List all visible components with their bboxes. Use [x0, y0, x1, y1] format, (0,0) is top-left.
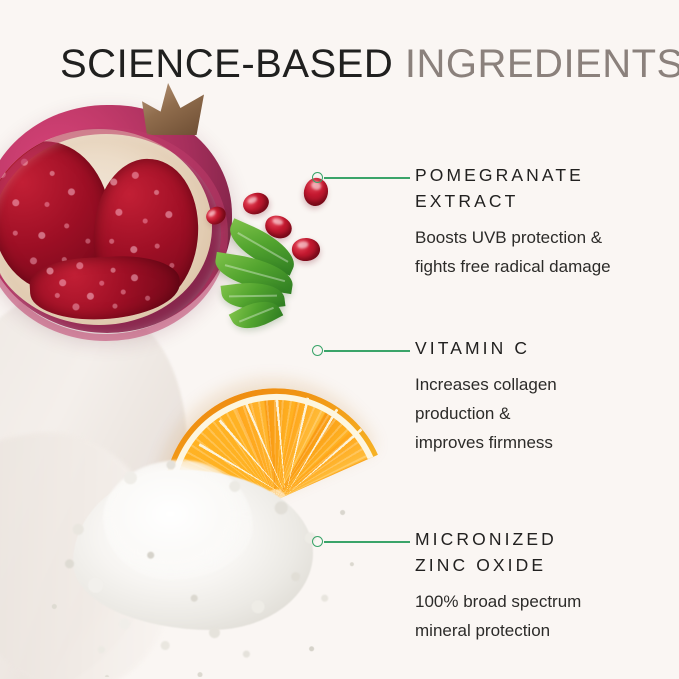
powder-granules [55, 452, 345, 667]
page-title: SCIENCE-BASED INGREDIENTS [60, 40, 679, 88]
powder-mound [73, 470, 313, 630]
zinc-oxide-powder-photo [55, 452, 345, 667]
orange-slice-body [128, 352, 378, 545]
green-leaf [229, 292, 284, 337]
callout-body-line: Boosts UVB protection & [415, 223, 675, 252]
circle-marker-icon [312, 345, 323, 356]
pomegranate-aril [240, 189, 272, 219]
callout-text-block: POMEGRANATE EXTRACT Boosts UVB protectio… [415, 162, 675, 281]
aril-texture [28, 253, 181, 323]
pomegranate-rim [0, 127, 228, 341]
callout-body-line: 100% broad spectrum [415, 587, 675, 616]
cream-swatch-streak-secondary [0, 415, 189, 679]
pomegranate-pith [0, 129, 212, 325]
powder-mound-highlight [103, 460, 253, 580]
green-leaf [221, 278, 286, 313]
callout-body: Boosts UVB protection & fights free radi… [415, 223, 675, 281]
powder-dust-specks [45, 442, 355, 677]
page-title-primary: SCIENCE-BASED [60, 42, 393, 86]
circle-marker-icon [312, 536, 323, 547]
aril-texture [0, 134, 120, 299]
leader-line [324, 177, 410, 179]
callout-body-line: fights free radical damage [415, 252, 675, 281]
leader-line [324, 350, 410, 352]
pomegranate-half-photo [0, 105, 232, 333]
pomegranate-crown [142, 83, 204, 135]
callout-text-block: MICRONIZED ZINC OXIDE 100% broad spectru… [415, 526, 675, 645]
callout-body: Increases collagen production & improves… [415, 370, 675, 457]
callout-text-block: VITAMIN C Increases collagen production … [415, 335, 675, 457]
callout-body-line: improves firmness [415, 428, 675, 457]
pomegranate-aril [203, 203, 229, 229]
orange-segment-lines [153, 363, 378, 537]
pomegranate-skin [0, 105, 232, 333]
callout-heading-line: POMEGRANATE [415, 162, 675, 188]
cream-swatch-streak [0, 278, 219, 679]
callout-heading-line: VITAMIN C [415, 335, 675, 361]
green-leaf [212, 252, 296, 294]
green-leaf [222, 218, 302, 276]
pomegranate-aril [291, 236, 322, 263]
callout-heading-line: EXTRACT [415, 188, 675, 214]
circle-marker-icon [312, 172, 323, 183]
callout-heading: POMEGRANATE EXTRACT [415, 162, 675, 214]
orange-peel [128, 352, 378, 545]
aril-cluster [28, 253, 181, 323]
pomegranate-aril [263, 213, 295, 241]
callout-heading: MICRONIZED ZINC OXIDE [415, 526, 675, 578]
orange-slice-photo [82, 250, 378, 546]
callout-heading: VITAMIN C [415, 335, 675, 361]
callout-heading-line: MICRONIZED [415, 526, 675, 552]
page-title-secondary: INGREDIENTS [405, 42, 679, 86]
aril-cluster [0, 134, 120, 299]
callout-body-line: Increases collagen [415, 370, 675, 399]
aril-cluster [87, 154, 206, 312]
callout-body: 100% broad spectrum mineral protection [415, 587, 675, 645]
callout-body-line: production & [415, 399, 675, 428]
callout-heading-line: ZINC OXIDE [415, 552, 675, 578]
leader-line [324, 541, 410, 543]
aril-texture [87, 154, 206, 312]
orange-flesh [143, 368, 368, 542]
ingredients-infographic: SCIENCE-BASED INGREDIENTS [0, 0, 679, 679]
callout-body-line: mineral protection [415, 616, 675, 645]
orange-pith [135, 360, 374, 544]
